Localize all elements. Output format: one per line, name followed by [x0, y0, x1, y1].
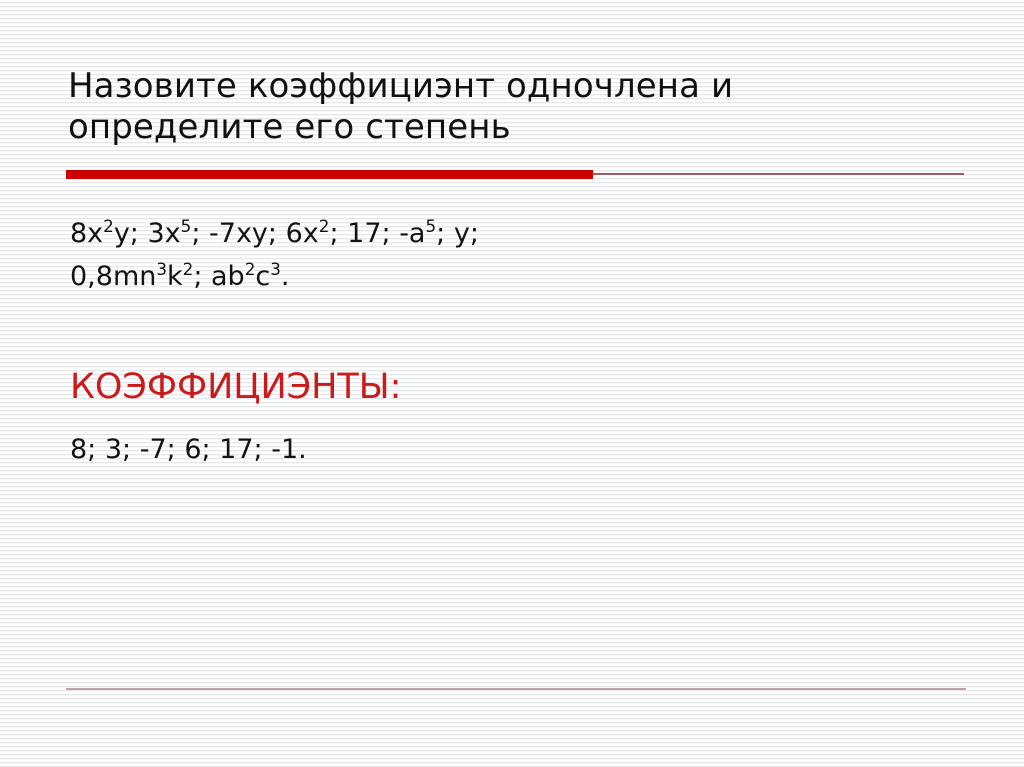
exponent: 3 [156, 259, 167, 279]
coefficients-answers: 8; 3; -7; 6; 17; -1. [70, 432, 307, 468]
slide-title: Назовите коэффициэнт одночлена и определ… [68, 66, 968, 148]
monomial-line-2: 0,8mn3k2; ab2c3. [70, 255, 479, 298]
monomial-term: 17; [347, 218, 390, 249]
footer-rule [66, 688, 966, 690]
monomial-term: ab2c3. [211, 261, 289, 292]
monomial-term: 8x2y; [70, 218, 139, 249]
title-divider [66, 170, 964, 179]
monomial-term: 6x2; [286, 218, 339, 249]
exponent: 3 [270, 259, 281, 279]
slide-canvas: Назовите коэффициэнт одночлена и определ… [0, 0, 1024, 767]
monomial-term: y; [454, 218, 479, 249]
exponent: 2 [183, 259, 194, 279]
monomial-term: 3x5; [148, 218, 201, 249]
coefficients-heading: КОЭФФИЦИЭНТЫ: [70, 366, 401, 408]
title-line-2: определите его степень [68, 107, 968, 148]
exponent: 2 [245, 259, 256, 279]
divider-thin-line [593, 173, 964, 175]
title-line-1: Назовите коэффициэнт одночлена и [68, 66, 968, 107]
exponent: 5 [181, 216, 192, 236]
monomial-list: 8x2y; 3x5; -7xy; 6x2; 17; -a5; y; 0,8mn3… [70, 212, 479, 298]
divider-thick-bar [66, 170, 593, 179]
monomial-line-1: 8x2y; 3x5; -7xy; 6x2; 17; -a5; y; [70, 212, 479, 255]
exponent: 5 [425, 216, 436, 236]
exponent: 2 [103, 216, 114, 236]
monomial-term: 0,8mn3k2; [70, 261, 202, 292]
exponent: 2 [319, 216, 330, 236]
monomial-term: -7xy; [209, 218, 277, 249]
monomial-term: -a5; [399, 218, 445, 249]
